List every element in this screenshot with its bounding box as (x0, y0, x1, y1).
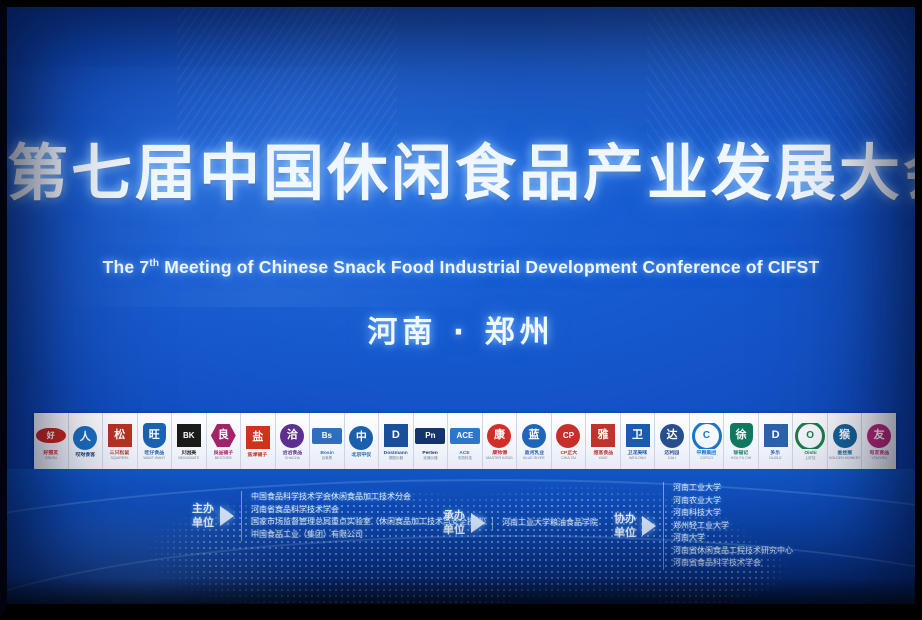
sponsor-logo-cell: 猴金丝猴GOLDEN MONKEY (828, 413, 863, 469)
sponsor-logo-icon: 中 (346, 425, 376, 451)
sponsor-logo-name: ACE (460, 450, 470, 456)
sponsor-logo-icon: D (381, 423, 411, 449)
sponsor-logo-name: 贝因美 (181, 450, 196, 456)
sponsor-logo-subtext: BLUE RIVER (523, 456, 544, 460)
sponsor-logo-cell: 康康师傅MASTER KONG (483, 413, 518, 469)
sponsor-logo-name: 北京中仪 (352, 452, 372, 458)
organizer-lines: 河南工业大学粮油食品学院 (492, 517, 598, 530)
sponsor-logo-icon: 旺 (139, 423, 169, 449)
sponsor-logo-cell: 徐徐福记HSU FU CHI (724, 413, 759, 469)
sponsor-logo-subtext: HSU FU CHI (731, 456, 752, 460)
sponsor-logo-subtext: ORION (45, 456, 57, 460)
co-organizer-label: 协办单位 (612, 512, 638, 540)
sponsor-logo-icon: 盐 (243, 425, 273, 451)
organizer-group: 承办单位 河南工业大学粮油食品学院 (441, 509, 598, 537)
organizer-label: 承办单位 (441, 509, 467, 537)
sponsor-logo-cell: D多乐DUOLE (759, 413, 794, 469)
sponsor-logo-subtext: 上好佳 (805, 456, 816, 460)
sheen-band-3 (7, 67, 915, 407)
sponsor-logo-icon: 徐 (726, 423, 756, 449)
sponsor-logo-icon: 蓝 (519, 423, 549, 449)
sponsor-logo-name: 徐福记 (734, 450, 749, 456)
sponsor-logo-name: Bosin (320, 450, 334, 456)
conference-slide: 第七届中国休闲食品产业发展大会 The 7th Meeting of Chine… (7, 7, 915, 605)
sponsor-logo-icon: 康 (484, 423, 514, 449)
sponsor-logo-subtext: BESTORE (215, 456, 232, 460)
sponsor-logo-name: 金丝猴 (837, 450, 852, 456)
sponsor-logo-name: 多乐 (771, 450, 781, 456)
sponsor-logo-name: 盐津铺子 (248, 452, 268, 458)
organizer-line: 河南工业大学 (673, 482, 793, 495)
sponsor-logo-cell: ACEACE安辰科技 (448, 413, 483, 469)
subtitle-ordinal: th (149, 258, 159, 269)
sponsor-logo-subtext: 波通仪器 (423, 456, 437, 460)
sponsor-logo-cell: 雅雅客食品YAKE (586, 413, 621, 469)
sponsor-logo-icon: Bs (312, 423, 342, 449)
sponsor-logo-name: 达利园 (665, 450, 680, 456)
sponsor-logo-subtext: 百事恩 (321, 456, 332, 460)
sponsor-logo-subtext: 德图仪器 (389, 456, 403, 460)
sponsor-logo-subtext: YAKE (598, 456, 607, 460)
sponsor-logo-icon: 好 (36, 423, 66, 449)
sponsor-logo-cell: 良良品铺子BESTORE (207, 413, 242, 469)
sponsor-logo-icon: C (692, 423, 722, 449)
triangle-arrow-icon (642, 516, 656, 536)
organizer-line: 河南科技大学 (673, 507, 793, 520)
page-title: 第七届中国休闲食品产业发展大会 (7, 138, 915, 210)
sponsor-logo-cell: BK贝因美BEINGMATE (172, 413, 207, 469)
sponsor-logo-icon: CP (553, 423, 583, 449)
texture-noise-left (177, 7, 397, 157)
sponsor-logo-name: 良品铺子 (213, 450, 233, 456)
sponsor-logo-name: 康师傅 (492, 450, 507, 456)
sponsor-logo-name: Dostmann (384, 450, 408, 456)
sponsor-logo-name: 三只松鼠 (110, 450, 130, 456)
sponsor-logo-cell: 松三只松鼠SQUIRREL (103, 413, 138, 469)
sponsor-logo-icon: 友 (864, 423, 894, 449)
sponsor-logo-icon: Pn (415, 423, 445, 449)
organizer-line: 河南工业大学粮油食品学院 (502, 517, 598, 530)
sponsor-logo-name: 好丽友 (43, 450, 58, 456)
sponsor-logo-subtext: MASTER KONG (486, 456, 513, 460)
sponsor-logo-cell: BsBosin百事恩 (310, 413, 345, 469)
sponsor-logo-name: 有友食品 (869, 450, 889, 456)
sponsor-logo-cell: 卫卫龙美味WEILONG (621, 413, 656, 469)
subtitle-english: The 7th Meeting of Chinese Snack Food In… (7, 252, 915, 279)
sponsor-logo-subtext: CHACHA (285, 456, 300, 460)
sponsor-logo-name: 中粮集团 (697, 450, 717, 456)
co-organizer-group: 协办单位 河南工业大学河南农业大学河南科技大学郑州轻工业大学河南大学河南省休闲食… (612, 482, 793, 570)
organizer-line: 河南大学 (673, 532, 793, 545)
subtitle-post: Meeting of Chinese Snack Food Industrial… (159, 257, 819, 277)
sponsor-logo-icon: ACE (450, 423, 480, 449)
sponsor-logo-subtext: WEILONG (629, 456, 646, 460)
triangle-arrow-icon (220, 506, 234, 526)
sponsor-logo-name: 洽洽食品 (283, 450, 303, 456)
sponsor-logo-subtext: DUOLE (769, 456, 781, 460)
sponsor-logo-icon: 雅 (588, 423, 618, 449)
sponsor-logo-icon: 人 (70, 425, 100, 451)
organizer-line: 中国食品科学技术学会休闲食品加工技术分会 (251, 491, 491, 504)
sponsor-logo-cell: 盐盐津铺子 (241, 413, 276, 469)
sponsor-logo-icon: O (795, 423, 825, 449)
sponsor-logo-subtext: GOLDEN MONKEY (829, 456, 861, 460)
organizer-line: 河南省休闲食品工程技术研究中心 (673, 545, 793, 558)
sponsor-logo-name: 旺仔食品 (144, 450, 164, 456)
sponsor-logo-cell: PnPerten波通仪器 (414, 413, 449, 469)
sponsor-logo-cell: DDostmann德图仪器 (379, 413, 414, 469)
sponsor-logo-strip: 好好丽友ORION人哎呀食客松三只松鼠SQUIRREL旺旺仔食品WANT WAN… (34, 413, 896, 469)
sponsor-logo-icon: 洽 (277, 423, 307, 449)
sponsor-logo-name: 雅客食品 (593, 450, 613, 456)
sponsor-logo-icon: D (761, 423, 791, 449)
sponsor-logo-name: 哎呀食客 (75, 452, 95, 458)
sponsor-logo-name: Oishi (804, 450, 816, 456)
sponsor-logo-cell: 蓝蓝河乳业BLUE RIVER (517, 413, 552, 469)
sponsor-logo-subtext: BEINGMATE (178, 456, 199, 460)
host-label: 主办单位 (190, 502, 216, 530)
sponsor-logo-icon: 良 (208, 423, 238, 449)
sponsor-logo-icon: 达 (657, 423, 687, 449)
sponsor-logo-subtext: COFCO (700, 456, 713, 460)
organizer-line: 河南省食品科学技术学会 (673, 557, 793, 570)
triangle-arrow-icon (471, 513, 485, 533)
sponsor-logo-name: Perten (423, 450, 438, 456)
sponsor-logo-icon: BK (174, 423, 204, 449)
sponsor-logo-cell: 中北京中仪 (345, 413, 380, 469)
sponsor-logo-cell: 洽洽洽食品CHACHA (276, 413, 311, 469)
sponsor-logo-subtext: SQUIRREL (111, 456, 129, 460)
sponsor-logo-cell: 旺旺仔食品WANT WANT (138, 413, 173, 469)
sponsor-logo-subtext: WANT WANT (143, 456, 165, 460)
sponsor-logo-icon: 卫 (623, 423, 653, 449)
screenshot-root: 第七届中国休闲食品产业发展大会 The 7th Meeting of Chine… (0, 0, 922, 620)
sponsor-logo-subtext: CHIA TAI (561, 456, 576, 460)
sponsor-logo-name: 卫龙美味 (628, 450, 648, 456)
sponsor-logo-cell: 友有友食品YOUYOU (862, 413, 896, 469)
sponsor-logo-cell: 达达利园DALI (655, 413, 690, 469)
sponsor-logo-cell: OOishi上好佳 (793, 413, 828, 469)
event-location: 河南 · 郑州 (7, 312, 915, 354)
sponsor-logo-name: 蓝河乳业 (524, 450, 544, 456)
sponsor-logo-cell: CPCP正大CHIA TAI (552, 413, 587, 469)
sponsor-logo-subtext: 安辰科技 (458, 456, 472, 460)
sponsor-logo-icon: 猴 (830, 423, 860, 449)
sponsor-logo-icon: 松 (105, 423, 135, 449)
organizer-band: 主办单位 中国食品科学技术学会休闲食品加工技术分会河南省食品科学技术学会国家市场… (7, 469, 915, 605)
organizer-line: 郑州轻工业大学 (673, 520, 793, 533)
subtitle-pre: The 7 (103, 257, 150, 277)
sponsor-logo-cell: 人哎呀食客 (69, 413, 104, 469)
sponsor-logo-name: CP正大 (560, 450, 577, 456)
sponsor-logo-cell: C中粮集团COFCO (690, 413, 725, 469)
organizer-line: 河南农业大学 (673, 495, 793, 508)
co-organizer-lines: 河南工业大学河南农业大学河南科技大学郑州轻工业大学河南大学河南省休闲食品工程技术… (663, 482, 793, 570)
sponsor-logo-subtext: YOUYOU (871, 456, 887, 460)
sponsor-logo-cell: 好好丽友ORION (34, 413, 69, 469)
sponsor-logo-subtext: DALI (668, 456, 676, 460)
